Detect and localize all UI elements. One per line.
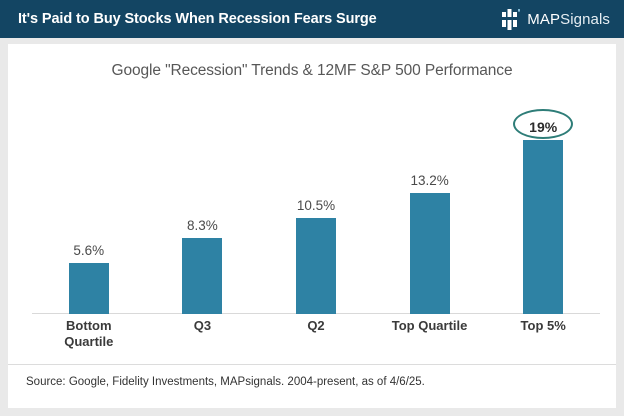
source-note: Source: Google, Fidelity Investments, MA… <box>26 376 425 388</box>
brand-map-text: MAP <box>527 11 560 28</box>
category-line: Quartile <box>32 334 145 350</box>
highlight-ellipse-icon <box>513 109 573 139</box>
category-label-top-5pct: Top 5% <box>487 318 600 351</box>
category-line: Q2 <box>259 318 372 334</box>
bar-value-label: 8.3% <box>146 218 259 233</box>
footer-divider <box>8 364 616 365</box>
bar-slot-top-quartile: 13.2% <box>373 88 486 314</box>
category-line: Top 5% <box>487 318 600 334</box>
bar-series: 5.6% 8.3% 10.5% 13.2% 19% <box>32 88 600 314</box>
page-title: It's Paid to Buy Stocks When Recession F… <box>18 11 377 27</box>
bar-q3[interactable] <box>182 238 222 314</box>
chart-title: Google "Recession" Trends & 12MF S&P 500… <box>8 62 616 80</box>
bar-top-quartile[interactable] <box>410 193 450 314</box>
category-line: Q3 <box>146 318 259 334</box>
bar-top-5pct[interactable] <box>523 140 563 314</box>
brand-logo: MAPSignals <box>502 9 610 30</box>
category-label-q3: Q3 <box>146 318 259 351</box>
plot-area: 5.6% 8.3% 10.5% 13.2% 19% <box>32 88 600 314</box>
slide-page: It's Paid to Buy Stocks When Recession F… <box>0 0 624 416</box>
chart-card: Google "Recession" Trends & 12MF S&P 500… <box>8 44 616 408</box>
brand-text: MAPSignals <box>527 11 610 28</box>
bar-slot-q3: 8.3% <box>146 88 259 314</box>
bar-value-label: 13.2% <box>373 173 486 188</box>
category-line: Top Quartile <box>373 318 486 334</box>
bar-q2[interactable] <box>296 218 336 314</box>
category-label-bottom-quartile: Bottom Quartile <box>32 318 145 351</box>
category-line: Bottom <box>32 318 145 334</box>
bar-bottom-quartile[interactable] <box>69 263 109 314</box>
header-banner: It's Paid to Buy Stocks When Recession F… <box>0 0 624 38</box>
brand-signals-text: Signals <box>560 11 610 28</box>
category-label-top-quartile: Top Quartile <box>373 318 486 351</box>
x-axis-categories: Bottom Quartile Q3 Q2 Top Quartile Top 5… <box>32 318 600 351</box>
bar-slot-bottom-quartile: 5.6% <box>32 88 145 314</box>
map-signals-bars-icon <box>502 9 521 30</box>
category-label-q2: Q2 <box>259 318 372 351</box>
bar-slot-q2: 10.5% <box>259 88 372 314</box>
bar-value-label: 10.5% <box>259 198 372 213</box>
bar-value-label: 5.6% <box>32 243 145 258</box>
bar-slot-top-5pct: 19% <box>487 88 600 314</box>
